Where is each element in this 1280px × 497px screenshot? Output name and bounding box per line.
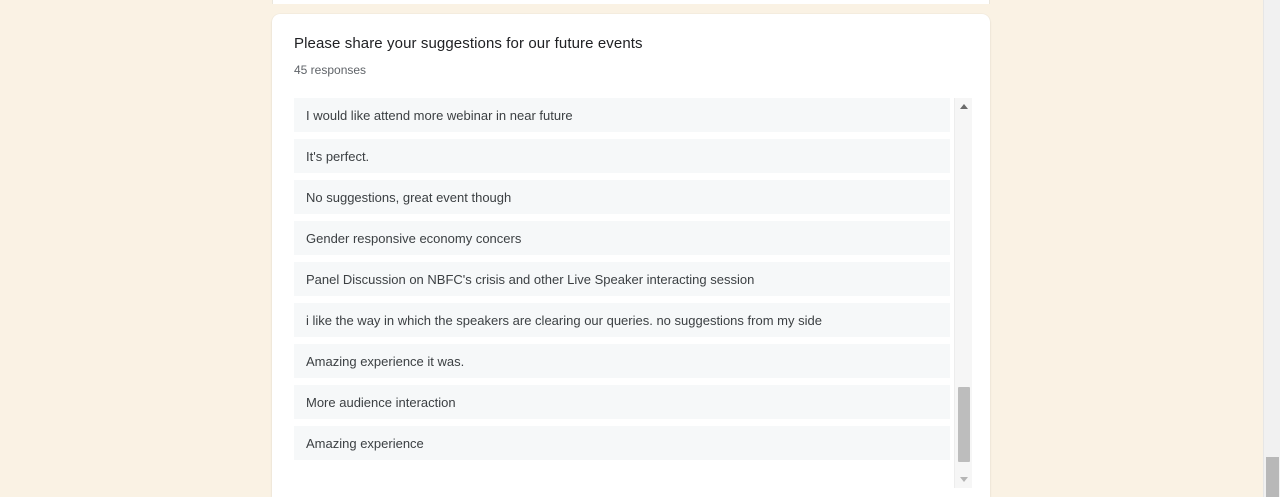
response-row: More audience interaction (294, 385, 950, 419)
responses-list[interactable]: I would like attend more webinar in near… (294, 98, 950, 488)
response-row: Amazing experience (294, 426, 950, 460)
response-row: Gender responsive economy concers (294, 221, 950, 255)
response-row: I would like attend more webinar in near… (294, 98, 950, 132)
response-row: i like the way in which the speakers are… (294, 303, 950, 337)
response-count-label: 45 responses (294, 62, 366, 78)
responses-scrollbar-thumb[interactable] (958, 387, 970, 462)
response-row: Amazing experience it was. (294, 344, 950, 378)
response-text: More audience interaction (306, 394, 456, 411)
response-text: Panel Discussion on NBFC's crisis and ot… (306, 271, 754, 288)
response-row: No suggestions, great event though (294, 180, 950, 214)
response-text: i like the way in which the speakers are… (306, 312, 822, 329)
scroll-up-button[interactable] (955, 98, 972, 115)
response-text: I would like attend more webinar in near… (306, 107, 573, 124)
previous-response-card-partial (272, 0, 990, 4)
response-text: Gender responsive economy concers (306, 230, 521, 247)
page-scrollbar[interactable] (1263, 0, 1280, 497)
response-text: Amazing experience it was. (306, 353, 464, 370)
page-title: Please share your suggestions for our fu… (294, 34, 643, 54)
responses-scrollbar[interactable] (954, 98, 972, 488)
triangle-up-icon (960, 104, 968, 109)
page-scrollbar-thumb[interactable] (1266, 457, 1279, 497)
question-response-card: Please share your suggestions for our fu… (272, 14, 990, 497)
response-text: It's perfect. (306, 148, 369, 165)
response-text: Amazing experience (306, 435, 424, 452)
response-row: Panel Discussion on NBFC's crisis and ot… (294, 262, 950, 296)
response-text: No suggestions, great event though (306, 189, 511, 206)
scroll-down-button[interactable] (955, 471, 972, 488)
response-row: It's perfect. (294, 139, 950, 173)
responses-section: I would like attend more webinar in near… (294, 98, 972, 488)
triangle-down-icon (960, 477, 968, 482)
